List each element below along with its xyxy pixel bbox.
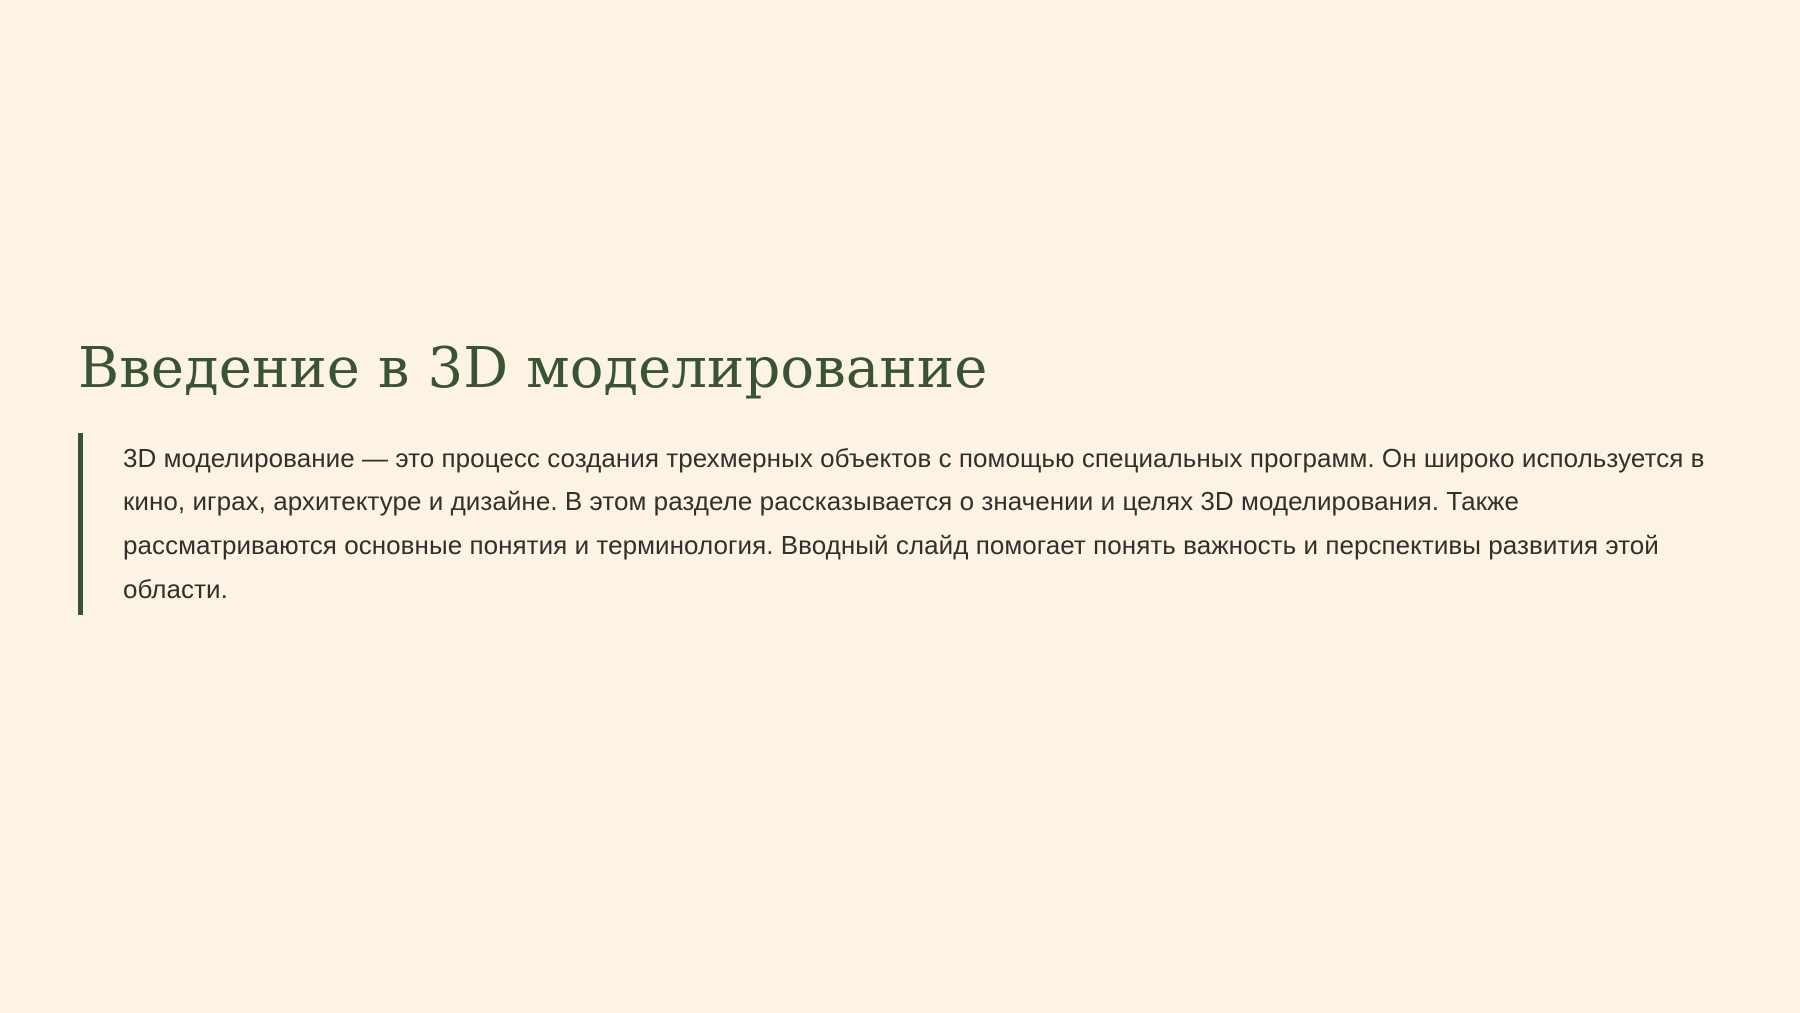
slide-body-text: 3D моделирование — это процесс создания …	[123, 433, 1713, 616]
presentation-slide: Введение в 3D моделирование 3D моделиров…	[0, 0, 1800, 1013]
slide-content: Введение в 3D моделирование 3D моделиров…	[78, 338, 1738, 615]
slide-title: Введение в 3D моделирование	[78, 338, 1738, 401]
slide-body-block: 3D моделирование — это процесс создания …	[78, 433, 1738, 616]
accent-bar	[78, 433, 83, 616]
